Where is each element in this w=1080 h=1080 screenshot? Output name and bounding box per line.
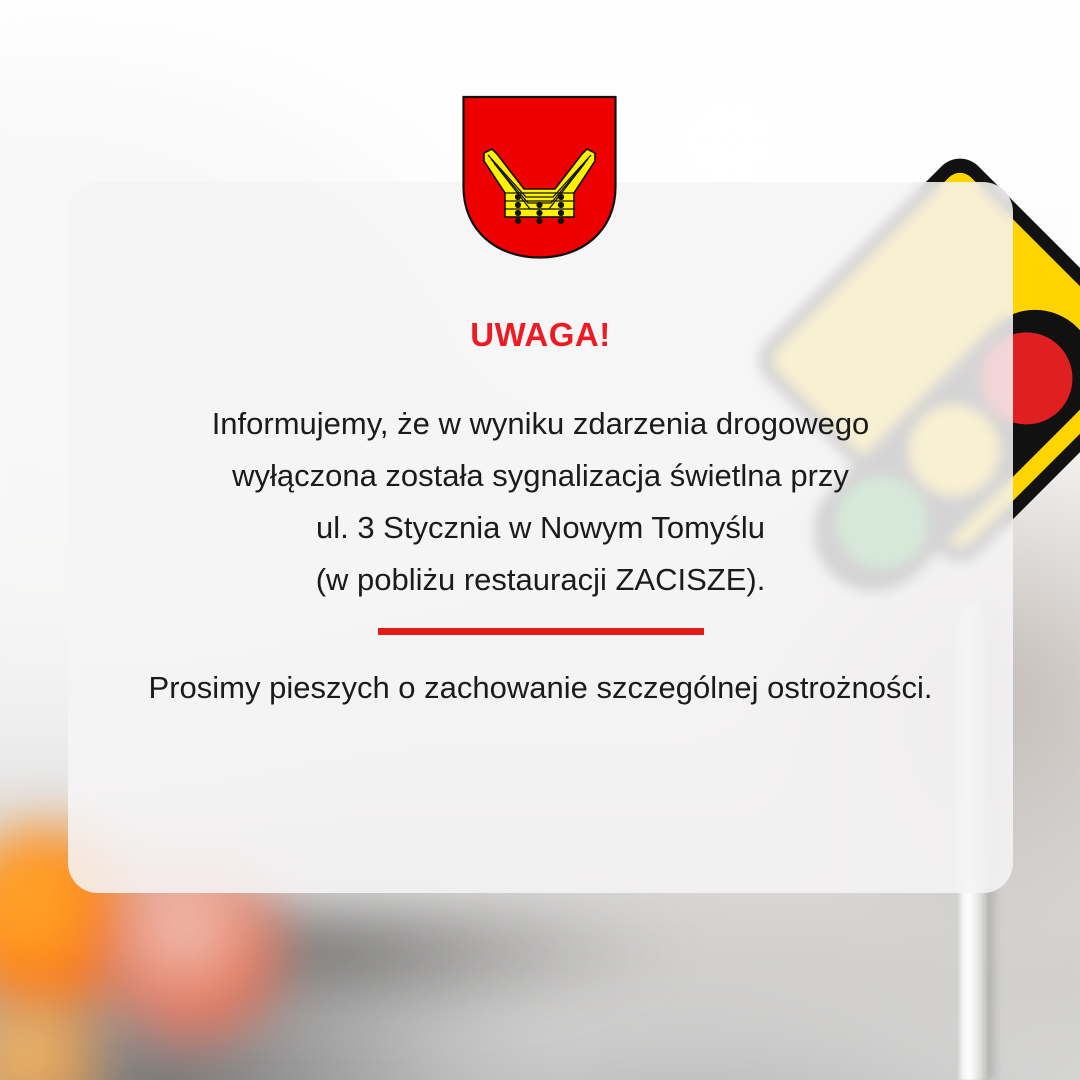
alert-title: UWAGA!	[68, 316, 1013, 354]
notice-body: Informujemy, że w wyniku zdarzenia drogo…	[68, 398, 1013, 606]
red-divider	[378, 628, 704, 635]
notice-content: UWAGA! Informujemy, że w wyniku zdarzeni…	[68, 182, 1013, 893]
notice-body-line: wyłączona została sygnalizacja świetlna …	[68, 450, 1013, 502]
notice-body-line: (w pobliżu restauracji ZACISZE).	[68, 554, 1013, 606]
poster-canvas: UWAGA! Informujemy, że w wyniku zdarzeni…	[0, 0, 1080, 1080]
notice-body-line: ul. 3 Stycznia w Nowym Tomyślu	[68, 502, 1013, 554]
notice-body-line: Informujemy, że w wyniku zdarzenia drogo…	[68, 398, 1013, 450]
closing-line: Prosimy pieszych o zachowanie szczególne…	[68, 670, 1013, 706]
